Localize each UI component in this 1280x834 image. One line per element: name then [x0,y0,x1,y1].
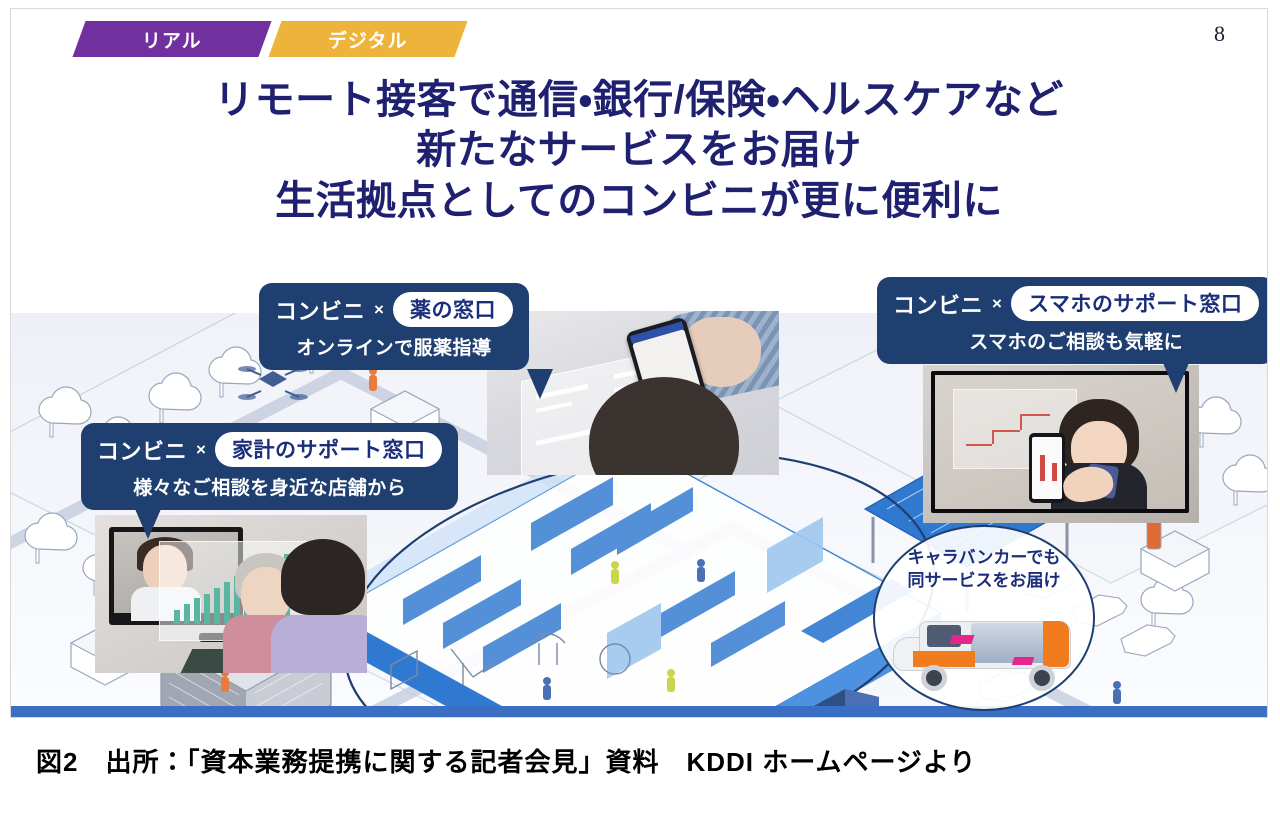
customer-companion [277,539,367,673]
vehicle-accent-orange-rear [1043,621,1069,667]
callout-subtitle: スマホのご相談も気軽に [893,327,1259,354]
callout-smartphone-support[interactable]: コンビニ × スマホのサポート窓口 スマホのご相談も気軽に [877,277,1268,364]
caravan-car-callout[interactable]: キャラバンカーでも 同サービスをお届け [873,525,1095,711]
tab-digital-label: デジタル [328,26,408,53]
multiply-icon: × [992,294,1002,314]
callout-tail-icon [135,509,161,539]
callout-subtitle: 様々なご相談を身近な店舗から [97,473,442,500]
illustration-bottom-bar [11,706,1268,718]
callout-household-support[interactable]: コンビニ × 家計のサポート窓口 様々なご相談を身近な店舗から [81,423,458,510]
demo-smartphone [1029,433,1065,503]
tab-real[interactable]: リアル [72,21,271,57]
vehicle-front-wheel [921,665,947,691]
callout-brand: コンビニ [97,434,187,466]
category-tabs: リアル デジタル [79,21,461,57]
caravan-caption: キャラバンカーでも 同サービスをお届け [875,547,1093,593]
companion-hair [281,539,365,615]
callout-tail-icon [1163,363,1189,393]
multiply-icon: × [374,300,384,320]
slide-frame: リアル デジタル 8 リモート接客で通信・銀行/保険・ヘルスケアなど 新たなサー… [10,8,1268,718]
caravan-vehicle [893,617,1077,691]
callout-title-row: コンビニ × スマホのサポート窓口 [893,286,1259,321]
callout-pharmacy[interactable]: コンビニ × 薬の窓口 オンラインで服薬指導 [259,283,529,370]
callout-title-row: コンビニ × 薬の窓口 [275,292,513,327]
slide-headline: リモート接客で通信・銀行/保険・ヘルスケアなど 新たなサービスをお届け 生活拠点… [11,75,1267,226]
figure-caption: 図2 出所：「資本業務提携に関する記者会見」資料 KDDI ホームページより [36,742,976,779]
companion-clothing [271,615,367,673]
caravan-caption-line-1: キャラバンカーでも [875,547,1093,570]
callout-tail-icon [527,369,553,399]
headline-line-3: 生活拠点としてのコンビニが更に便利に [11,176,1267,226]
callout-title-row: コンビニ × 家計のサポート窓口 [97,432,442,467]
video-call-monitor [931,371,1189,513]
vehicle-rear-wheel [1029,665,1055,691]
callout-brand: コンビニ [893,288,983,320]
callout-brand: コンビニ [275,294,365,326]
callout-pill: 家計のサポート窓口 [215,432,443,467]
callout-pill: 薬の窓口 [393,292,513,327]
tab-digital[interactable]: デジタル [268,21,467,57]
photo-smartphone-support [923,365,1199,523]
vehicle-accent-pink-front [950,635,975,644]
caravan-caption-line-2: 同サービスをお届け [875,570,1093,593]
slide-page: リアル デジタル 8 リモート接客で通信・銀行/保険・ヘルスケアなど 新たなサー… [0,0,1280,834]
callout-pill: スマホのサポート窓口 [1011,286,1259,321]
multiply-icon: × [196,440,206,460]
vehicle-accent-pink-rear [1012,657,1035,665]
page-number: 8 [1214,21,1225,47]
callout-subtitle: オンラインで服薬指導 [275,333,513,360]
headline-line-2: 新たなサービスをお届け [11,125,1267,175]
tab-real-label: リアル [142,26,202,53]
monitor-screen [935,375,1185,509]
vehicle-accent-orange-front [913,651,975,667]
headline-line-1: リモート接客で通信・銀行/保険・ヘルスケアなど [11,75,1267,125]
